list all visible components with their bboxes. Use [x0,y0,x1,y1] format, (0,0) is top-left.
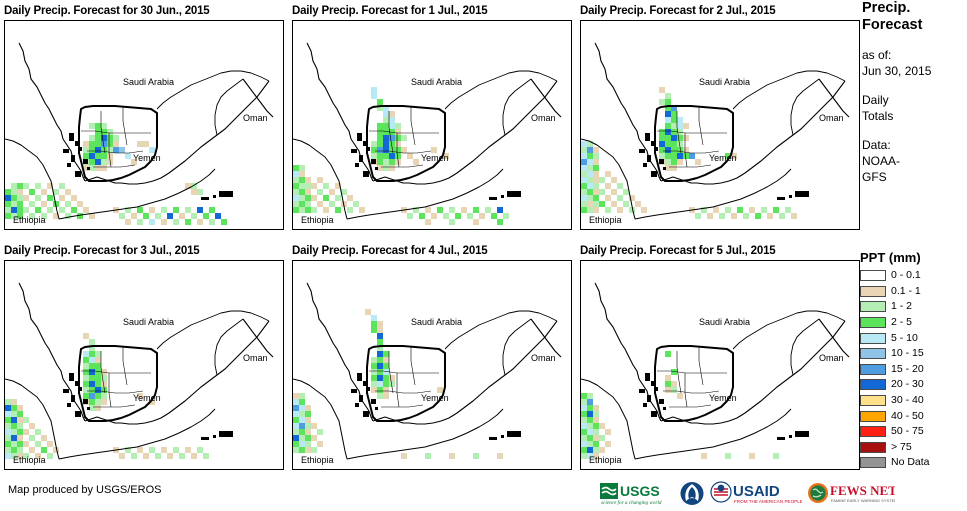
country-label-ethiopia: Ethiopia [301,455,334,465]
sidebar-data-source: Data: NOAA- GFS [862,137,967,185]
legend-swatch [860,333,886,344]
legend-label: 5 - 10 [891,333,918,344]
country-label-yemen: Yemen [133,393,161,403]
map-canvas[interactable]: Saudi ArabiaOmanYemenEthiopiaSomalia [292,20,572,230]
country-label-yemen: Yemen [709,393,737,403]
map-canvas[interactable]: Saudi ArabiaOmanYemenEthiopiaSomalia [4,260,284,470]
panel-title: Daily Precip. Forecast for 3 Jul., 2015 [4,244,199,258]
legend-swatch [860,364,886,375]
country-label-yemen: Yemen [133,153,161,163]
map-canvas[interactable]: Saudi ArabiaOmanYemenEthiopiaSomalia [580,20,860,230]
precipitation-legend: PPT (mm) 0 - 0.10.1 - 11 - 22 - 55 - 101… [860,250,967,471]
legend-item: 2 - 5 [860,315,967,331]
legend-swatch [860,457,886,468]
panel-3-jul: Daily Precip. Forecast for 3 Jul., 2015S… [4,244,199,258]
legend-item: > 75 [860,440,967,456]
country-label-saudi-arabia: Saudi Arabia [699,77,750,87]
panel-5-jul: Daily Precip. Forecast for 5 Jul., 2015S… [580,244,775,258]
sidebar-totals: Daily Totals [862,92,967,124]
legend-label: 0 - 0.1 [891,270,921,281]
legend-label: > 75 [891,442,912,453]
sidebar-title: Precip. Forecast [862,0,967,34]
legend-item: 5 - 10 [860,330,967,346]
map-canvas[interactable]: Saudi ArabiaOmanYemenEthiopiaSomalia [580,260,860,470]
country-outlines [5,261,284,470]
legend-swatch [860,426,886,437]
country-label-ethiopia: Ethiopia [589,455,622,465]
svg-text:USGS: USGS [620,483,660,499]
fews-net-logo: FEWS NET FAMINE EARLY WARNING SYSTEMS NE… [807,480,895,506]
legend-label: 10 - 15 [891,348,924,359]
country-outlines [581,261,860,470]
legend-label: 30 - 40 [891,395,924,406]
legend-swatch [860,270,886,281]
sidebar-asof: as of: Jun 30, 2015 [862,47,967,79]
map-canvas[interactable]: Saudi ArabiaOmanYemenEthiopiaSomalia [292,260,572,470]
legend-item: 0 - 0.1 [860,268,967,284]
svg-text:FEWS NET: FEWS NET [830,483,895,498]
usgs-logo: USGS science for a changing world [600,480,674,506]
svg-text:USAID: USAID [733,483,780,500]
country-label-yemen: Yemen [421,153,449,163]
legend-swatch [860,301,886,312]
country-label-saudi-arabia: Saudi Arabia [123,317,174,327]
svg-text:FROM THE AMERICAN PEOPLE: FROM THE AMERICAN PEOPLE [734,499,802,504]
legend-swatch [860,395,886,406]
legend-label: 40 - 50 [891,411,924,422]
legend-item: 15 - 20 [860,362,967,378]
legend-label: 0.1 - 1 [891,286,921,297]
legend-label: 2 - 5 [891,317,912,328]
panel-title: Daily Precip. Forecast for 30 Jun., 2015 [4,4,210,18]
panel-title: Daily Precip. Forecast for 4 Jul., 2015 [292,244,487,258]
country-label-yemen: Yemen [709,153,737,163]
legend-label: 20 - 30 [891,379,924,390]
country-label-ethiopia: Ethiopia [301,215,334,225]
legend-swatch [860,379,886,390]
country-label-saudi-arabia: Saudi Arabia [411,317,462,327]
legend-title: PPT (mm) [860,250,967,265]
legend-item: 40 - 50 [860,408,967,424]
panel-2-jul: Daily Precip. Forecast for 2 Jul., 2015S… [580,4,775,18]
legend-swatch [860,442,886,453]
country-outlines [5,21,284,230]
country-outlines [293,21,572,230]
country-outlines [293,261,572,470]
svg-text:science for a changing world: science for a changing world [601,499,662,506]
usaid-logo: USAID FROM THE AMERICAN PEOPLE [710,480,802,506]
country-label-oman: Oman [819,353,844,363]
country-label-saudi-arabia: Saudi Arabia [411,77,462,87]
legend-item: 20 - 30 [860,377,967,393]
legend-item: 1 - 2 [860,299,967,315]
country-label-oman: Oman [531,353,556,363]
panel-title: Daily Precip. Forecast for 1 Jul., 2015 [292,4,487,18]
svg-text:FAMINE EARLY WARNING SYSTEMS N: FAMINE EARLY WARNING SYSTEMS NETWORK [831,498,895,503]
info-sidebar: Precip. Forecast as of: Jun 30, 2015 Dai… [862,0,967,250]
country-label-oman: Oman [531,113,556,123]
country-outlines [581,21,860,230]
map-canvas[interactable]: Saudi ArabiaOmanYemenEthiopiaSomalia [4,20,284,230]
country-label-ethiopia: Ethiopia [13,215,46,225]
legend-label: No Data [891,457,930,468]
panel-30-jun: Daily Precip. Forecast for 30 Jun., 2015… [4,4,210,18]
legend-label: 15 - 20 [891,364,924,375]
agency-logos: USGS science for a changing world USAID … [600,480,895,506]
map-credit: Map produced by USGS/EROS [8,484,161,496]
noaa-logo [679,480,705,506]
legend-swatch [860,286,886,297]
legend-item: 30 - 40 [860,393,967,409]
legend-item: 0.1 - 1 [860,284,967,300]
legend-item: No Data [860,455,967,471]
legend-swatch [860,348,886,359]
panel-title: Daily Precip. Forecast for 5 Jul., 2015 [580,244,775,258]
legend-rows: 0 - 0.10.1 - 11 - 22 - 55 - 1010 - 1515 … [860,268,967,471]
country-label-oman: Oman [243,113,268,123]
country-label-oman: Oman [819,113,844,123]
country-label-ethiopia: Ethiopia [589,215,622,225]
panel-title: Daily Precip. Forecast for 2 Jul., 2015 [580,4,775,18]
country-label-saudi-arabia: Saudi Arabia [123,77,174,87]
legend-label: 1 - 2 [891,301,912,312]
country-label-ethiopia: Ethiopia [13,455,46,465]
panel-1-jul: Daily Precip. Forecast for 1 Jul., 2015S… [292,4,487,18]
country-label-saudi-arabia: Saudi Arabia [699,317,750,327]
legend-item: 10 - 15 [860,346,967,362]
country-label-oman: Oman [243,353,268,363]
legend-label: 50 - 75 [891,426,924,437]
legend-item: 50 - 75 [860,424,967,440]
panel-4-jul: Daily Precip. Forecast for 4 Jul., 2015S… [292,244,487,258]
country-label-yemen: Yemen [421,393,449,403]
legend-swatch [860,317,886,328]
legend-swatch [860,411,886,422]
